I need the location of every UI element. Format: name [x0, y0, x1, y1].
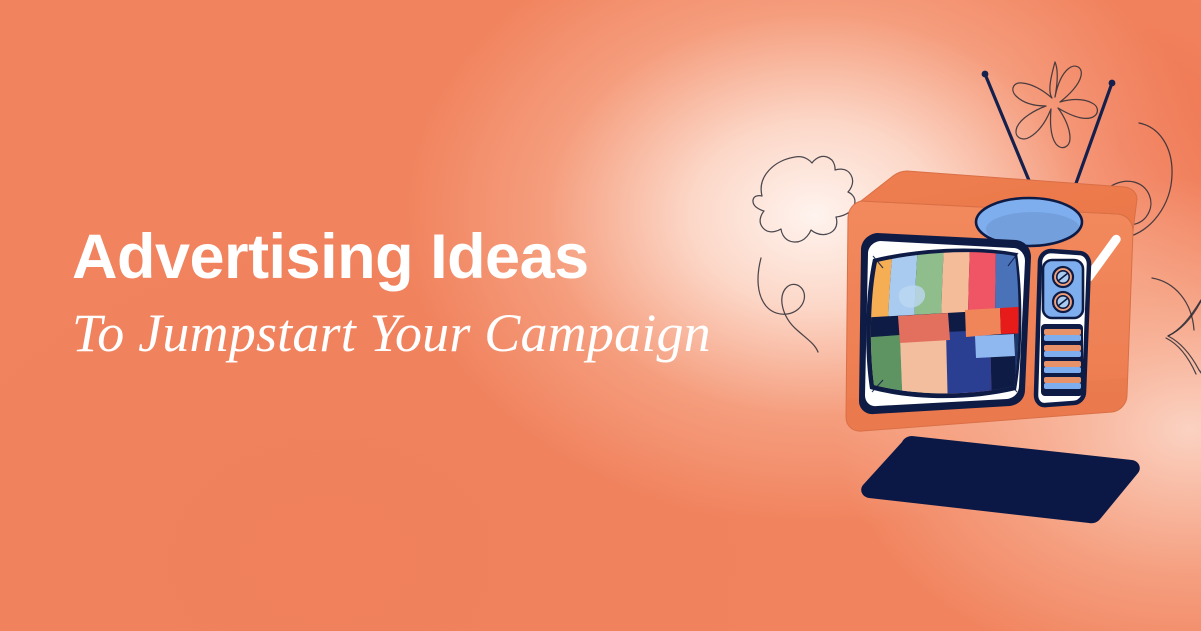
screen-mid-salmon [898, 313, 950, 343]
speaker-slat [1044, 351, 1081, 357]
tv-knob-1[interactable] [1053, 267, 1073, 287]
screen-test-pattern [858, 240, 1036, 412]
speaker-slat [1044, 335, 1081, 341]
speaker-slat [1044, 329, 1081, 335]
screen-mid-skyblue [975, 334, 1015, 358]
arc-doodle [1152, 278, 1194, 330]
cloud-blob-doodle [753, 156, 855, 242]
sparkle-doodle [1168, 300, 1201, 373]
page-subtitle: To Jumpstart Your Campaign [72, 306, 711, 360]
headline-block: Advertising Ideas To Jumpstart Your Camp… [72, 226, 711, 360]
advertising-banner: Advertising Ideas To Jumpstart Your Camp… [0, 0, 1201, 631]
screen-assembly [858, 233, 1036, 414]
sparkle-doodle-2 [1168, 301, 1201, 336]
speaker-slat [1044, 345, 1081, 351]
speaker-slat [1044, 383, 1081, 389]
tv-knob-2[interactable] [1053, 292, 1073, 312]
screen-mid-orange [965, 308, 1001, 337]
loop-squiggle-doodle [758, 258, 818, 352]
speaker-slat [1044, 361, 1081, 367]
antenna-left-tip [982, 71, 989, 78]
speaker-slat [1044, 377, 1081, 383]
antenna-right-tip [1109, 80, 1116, 87]
control-panel-group[interactable] [1036, 251, 1089, 405]
sparkle-tail-doodle [1166, 338, 1196, 374]
page-title: Advertising Ideas [72, 226, 711, 289]
star-burst-doodle [1013, 62, 1098, 148]
speaker-slat [1044, 367, 1081, 373]
tv-stand [861, 436, 1140, 523]
speaker-grille [1041, 324, 1083, 396]
